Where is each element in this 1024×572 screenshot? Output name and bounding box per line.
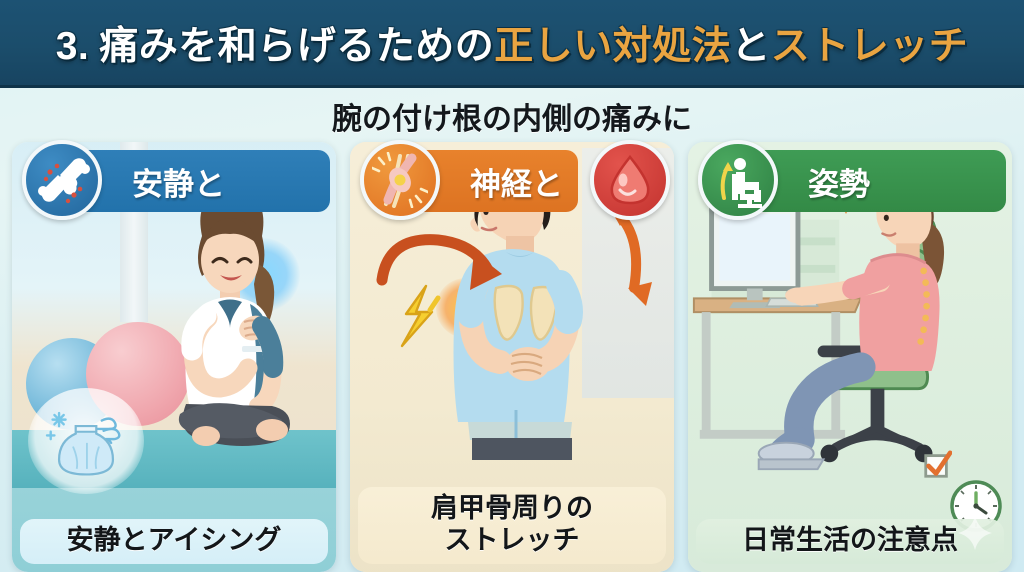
banner-label: 神経と — [470, 159, 563, 204]
blood-drop-icon — [590, 140, 670, 220]
sitting-posture-icon — [698, 140, 778, 220]
card-nerve-circulation[interactable]: 肩甲骨周りの ストレッチ 神経と — [350, 142, 674, 572]
caption-line: ストレッチ — [445, 525, 580, 556]
card-row: 安静とアイシング 安静と — [0, 142, 1024, 572]
title-plain-2: と — [731, 25, 771, 68]
subtitle-text: 腕の付け根の内側の痛みに — [332, 94, 692, 138]
caption-line: 安静とアイシング — [67, 525, 282, 556]
banner-label: 安静と — [132, 159, 225, 204]
title-bar: 3.痛みを和らげるための正しい対処法とストレッチ — [0, 0, 1024, 88]
seated-woman-figure — [150, 178, 310, 458]
caption-rest-icing: 安静とアイシング — [20, 519, 328, 564]
caption-line: 肩甲骨周りの — [431, 493, 593, 524]
card-rest-icing[interactable]: 安静とアイシング 安静と — [12, 142, 336, 572]
title-number: 3. — [56, 25, 90, 68]
subtitle-bar: 腕の付け根の内側の痛みに — [0, 92, 1024, 140]
checkbox-checked-icon — [922, 450, 952, 480]
sparkle-icon — [958, 516, 992, 550]
banner-label: 姿勢 — [808, 159, 870, 204]
page-title: 3.痛みを和らげるための正しい対処法とストレッチ — [56, 15, 969, 71]
caption-line: 日常生活の注意点 — [742, 525, 958, 556]
caption-posture: 日常生活の注意点 — [696, 519, 1004, 564]
card-posture[interactable]: 日常生活の注意点 姿勢 — [688, 142, 1012, 572]
title-accent-2: ストレッチ — [771, 25, 969, 68]
stretch-arrow-curved — [368, 220, 508, 340]
title-plain-1: 痛みを和らげるための — [99, 25, 494, 68]
bone-joint-icon — [22, 140, 102, 220]
ice-pack-icon — [28, 388, 144, 494]
nerve-icon — [360, 140, 440, 220]
title-accent-1: 正しい対処法 — [494, 25, 731, 68]
caption-scapula-stretch: 肩甲骨周りの ストレッチ — [358, 487, 666, 564]
